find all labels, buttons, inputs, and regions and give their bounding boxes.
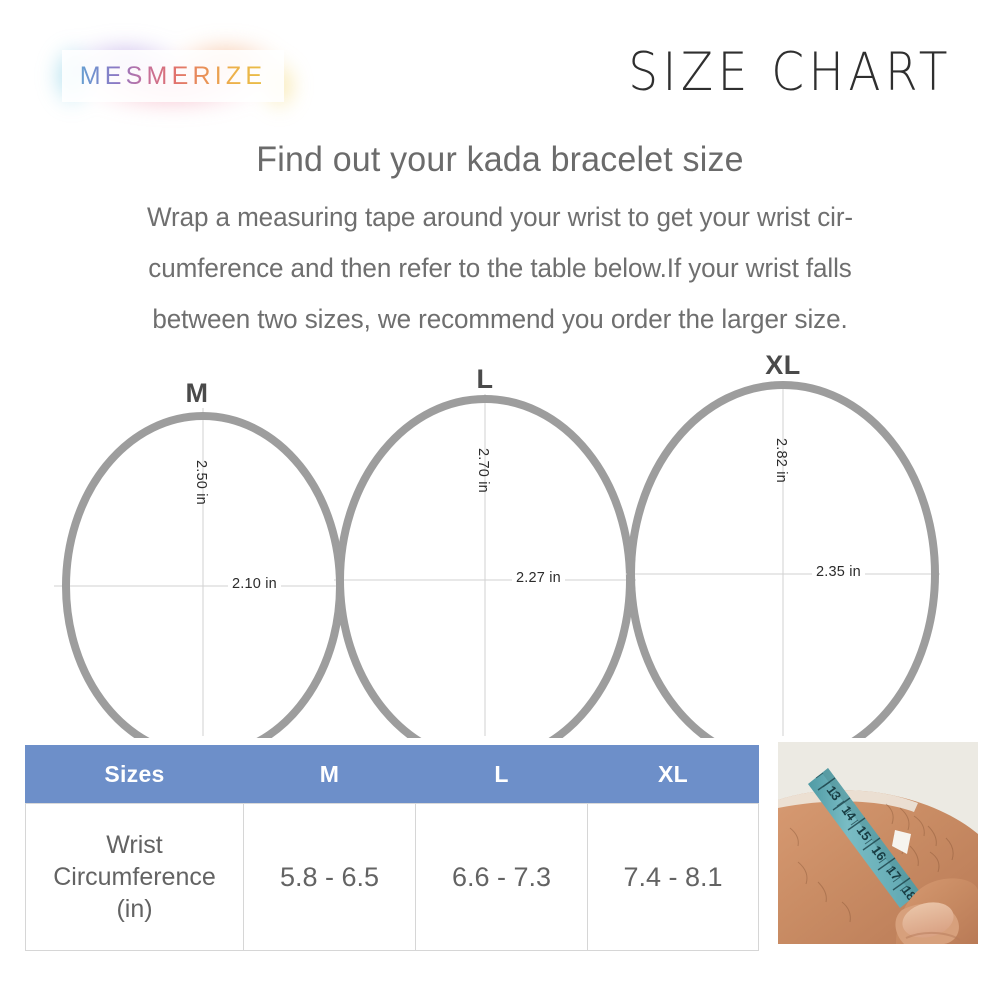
oval-height-label-l: 2.70 in [475,448,491,493]
brand-wordmark: MESMERIZE [62,50,284,102]
wrist-photo-illustration: 13 14 15 16 17 18 [778,742,978,944]
table-header-cell-l: L [416,746,588,804]
size-table: Sizes M L XL Wrist Circumference (in) 5.… [25,745,759,951]
table-header-cell-m: M [244,746,416,804]
intro-body-line: cumference and then refer to the table b… [18,243,983,294]
intro-body: Wrap a measuring tape around your wrist … [18,192,983,345]
intro-block: Find out your kada bracelet size Wrap a … [0,140,1000,345]
oval-diagrams: M 2.50 in 2.10 in L 2.70 in 2.27 in XL 2… [0,350,1000,745]
table-header-cell-xl: XL [588,746,759,804]
table-cell-xl-value: 7.4 - 8.1 [588,804,759,951]
oval-width-label-l: 2.27 in [512,570,565,586]
wrist-measurement-photo: 13 14 15 16 17 18 [778,742,978,944]
row-label-line: Wrist [27,829,242,861]
table-cell-l-value: 6.6 - 7.3 [416,804,588,951]
oval-height-label-m: 2.50 in [193,460,209,505]
intro-body-line: Wrap a measuring tape around your wrist … [18,192,983,243]
oval-diagram-m: M 2.50 in 2.10 in [50,378,344,738]
oval-width-label-xl: 2.35 in [812,564,865,580]
intro-heading: Find out your kada bracelet size [15,140,985,180]
oval-shape-xl [622,350,944,738]
row-label-line: (in) [27,893,242,925]
oval-height-label-xl: 2.82 in [773,438,789,483]
page-title: SIZE CHART [628,42,952,104]
row-label-line: Circumference [27,861,242,893]
brand-logo: MESMERIZE [62,50,284,102]
table-header-row: Sizes M L XL [26,746,759,804]
oval-shape-m [50,378,344,738]
intro-body-line: between two sizes, we recommend you orde… [18,294,983,345]
oval-diagram-l: L 2.70 in 2.27 in [330,364,640,738]
table-header-cell-sizes: Sizes [26,746,244,804]
oval-width-label-m: 2.10 in [228,576,281,592]
oval-diagram-xl: XL 2.82 in 2.35 in [622,350,944,738]
table-cell-m-value: 5.8 - 6.5 [244,804,416,951]
table-row: Wrist Circumference (in) 5.8 - 6.5 6.6 -… [26,804,759,951]
table-row-label: Wrist Circumference (in) [26,804,244,951]
oval-shape-l [330,364,640,738]
